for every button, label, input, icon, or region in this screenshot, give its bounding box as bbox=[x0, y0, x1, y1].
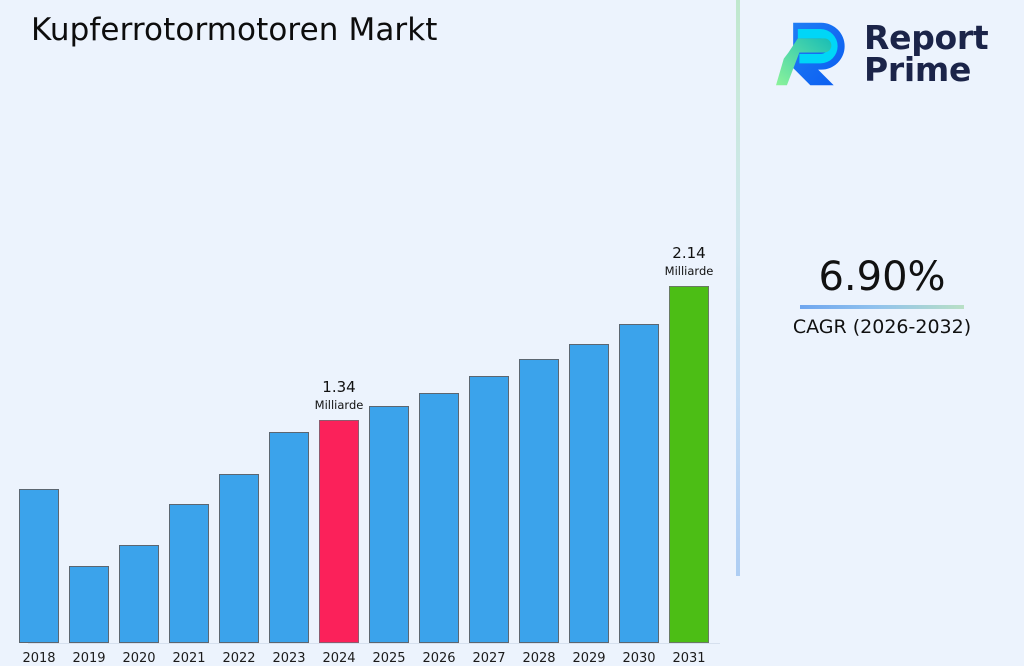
bar-2031[interactable]: 2.14Milliarde bbox=[669, 286, 709, 643]
x-axis-line bbox=[28, 643, 720, 644]
bar-unit-2031: Milliarde bbox=[641, 265, 737, 277]
cagr-value: 6.90% bbox=[740, 255, 1024, 299]
bar-rect-2025[interactable] bbox=[369, 406, 409, 643]
bar-2026[interactable] bbox=[419, 393, 459, 643]
bar-2027[interactable] bbox=[469, 376, 509, 643]
cagr-divider bbox=[800, 305, 964, 309]
bar-rect-2022[interactable] bbox=[219, 474, 259, 643]
bar-rect-2021[interactable] bbox=[169, 504, 209, 643]
bar-chart: 2018201920202021202220231.34Milliarde202… bbox=[0, 0, 736, 576]
bar-2022[interactable] bbox=[219, 474, 259, 643]
bar-value-label-2031: 2.14Milliarde bbox=[641, 246, 737, 277]
side-panel: Report Prime 6.90% CAGR (2026-2032) bbox=[740, 0, 1024, 576]
bar-rect-2018[interactable] bbox=[19, 489, 59, 643]
report-prime-logo[interactable]: Report Prime bbox=[776, 13, 1006, 95]
bar-rect-2024[interactable] bbox=[319, 420, 359, 643]
bar-rect-2030[interactable] bbox=[619, 324, 659, 643]
bar-2021[interactable] bbox=[169, 504, 209, 643]
bar-2020[interactable] bbox=[119, 545, 159, 643]
bar-2019[interactable] bbox=[69, 566, 109, 643]
bar-rect-2019[interactable] bbox=[69, 566, 109, 643]
bar-value-2024: 1.34 bbox=[291, 380, 387, 396]
bar-rect-2023[interactable] bbox=[269, 432, 309, 643]
bar-rect-2028[interactable] bbox=[519, 359, 559, 643]
plot-area: 2018201920202021202220231.34Milliarde202… bbox=[0, 110, 736, 534]
bar-rect-2029[interactable] bbox=[569, 344, 609, 643]
x-tick-2031: 2031 bbox=[659, 651, 719, 666]
bar-2030[interactable] bbox=[619, 324, 659, 643]
logo-line-2: Prime bbox=[864, 54, 988, 86]
bar-2023[interactable] bbox=[269, 432, 309, 643]
cagr-caption: CAGR (2026-2032) bbox=[740, 316, 1024, 338]
bar-2025[interactable] bbox=[369, 406, 409, 643]
report-prime-r-monogram-icon bbox=[776, 18, 854, 90]
bar-2028[interactable] bbox=[519, 359, 559, 643]
bar-2018[interactable] bbox=[19, 489, 59, 643]
bar-2024[interactable]: 1.34Milliarde bbox=[319, 420, 359, 643]
bar-2029[interactable] bbox=[569, 344, 609, 643]
bar-rect-2026[interactable] bbox=[419, 393, 459, 643]
bar-rect-2027[interactable] bbox=[469, 376, 509, 643]
logo-wordmark: Report Prime bbox=[864, 22, 988, 86]
cagr-block: 6.90% CAGR (2026-2032) bbox=[740, 255, 1024, 338]
bar-value-2031: 2.14 bbox=[641, 246, 737, 262]
bar-rect-2020[interactable] bbox=[119, 545, 159, 643]
infographic-page: Kupferrotormotoren Markt 201820192020202… bbox=[0, 0, 1024, 576]
bar-rect-2031[interactable] bbox=[669, 286, 709, 643]
